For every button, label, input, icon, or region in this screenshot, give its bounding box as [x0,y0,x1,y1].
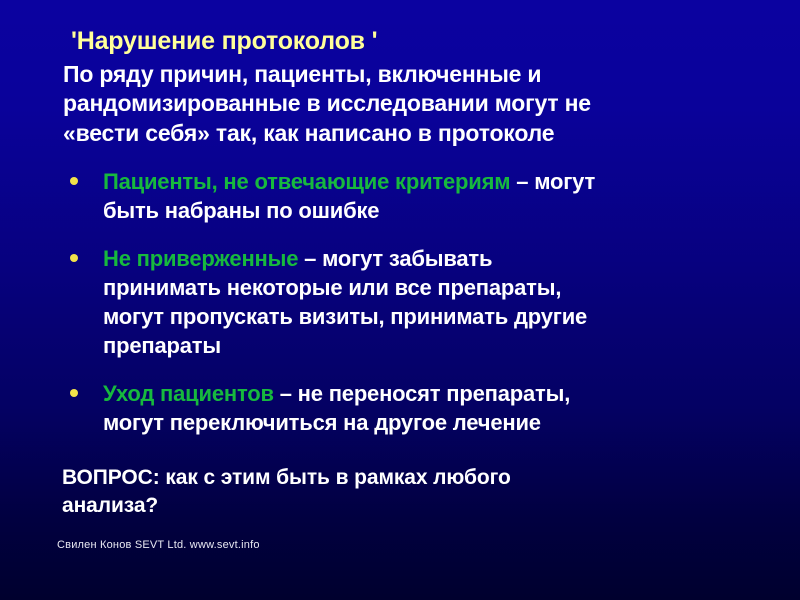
list-item-line: Уход пациентов – не переносят препараты, [103,379,783,408]
intro-paragraph: По ряду причин, пациенты, включенные и р… [63,60,763,150]
bullet-list: Пациенты, не отвечающие критериям – могу… [63,167,783,437]
list-item-text: Уход пациентов – не переносят препараты,… [103,379,783,438]
title-block: 'Нарушение протоколов ' По ряду причин, … [63,28,763,149]
list-item-rest: – не переносят препараты, [274,381,570,406]
question-line: ВОПРОС: как с этим быть в рамках любого [62,464,762,492]
intro-line: По ряду причин, пациенты, включенные и [63,60,763,90]
question-block: ВОПРОС: как с этим быть в рамках любого … [62,464,762,520]
list-item-text: Не приверженные – могут забывать принима… [103,244,783,361]
list-item: Пациенты, не отвечающие критериям – могу… [63,167,783,226]
slide-canvas: 'Нарушение протоколов ' По ряду причин, … [0,0,800,600]
page-title: 'Нарушение протоколов ' [63,28,763,56]
list-item: Не приверженные – могут забывать принима… [63,244,783,361]
list-item-line: принимать некоторые или все препараты, [103,273,783,302]
list-item-rest: – могут [510,169,595,194]
list-item-line: могут пропускать визиты, принимать други… [103,302,783,331]
list-item-line: препараты [103,331,783,360]
list-item-highlight: Уход пациентов [103,381,274,406]
footer-credit: Свилен Конов SEVT Ltd. www.sevt.info [57,539,260,551]
list-item-rest: – могут забывать [298,246,492,271]
list-item-line: могут переключиться на другое лечение [103,408,783,437]
list-item-highlight: Пациенты, не отвечающие критериям [103,169,510,194]
list-item-line: Пациенты, не отвечающие критериям – могу… [103,167,783,196]
bullet-dot-icon [70,389,78,397]
list-item-text: Пациенты, не отвечающие критериям – могу… [103,167,783,226]
list-item-line: Не приверженные – могут забывать [103,244,783,273]
list-item: Уход пациентов – не переносят препараты,… [63,379,783,438]
intro-line: «вести себя» так, как написано в протоко… [63,119,763,149]
question-line: анализа? [62,492,762,520]
intro-line: рандомизированные в исследовании могут н… [63,89,763,119]
list-item-highlight: Не приверженные [103,246,298,271]
bullet-dot-icon [70,177,78,185]
list-item-line: быть набраны по ошибке [103,196,783,225]
bullet-dot-icon [70,254,78,262]
